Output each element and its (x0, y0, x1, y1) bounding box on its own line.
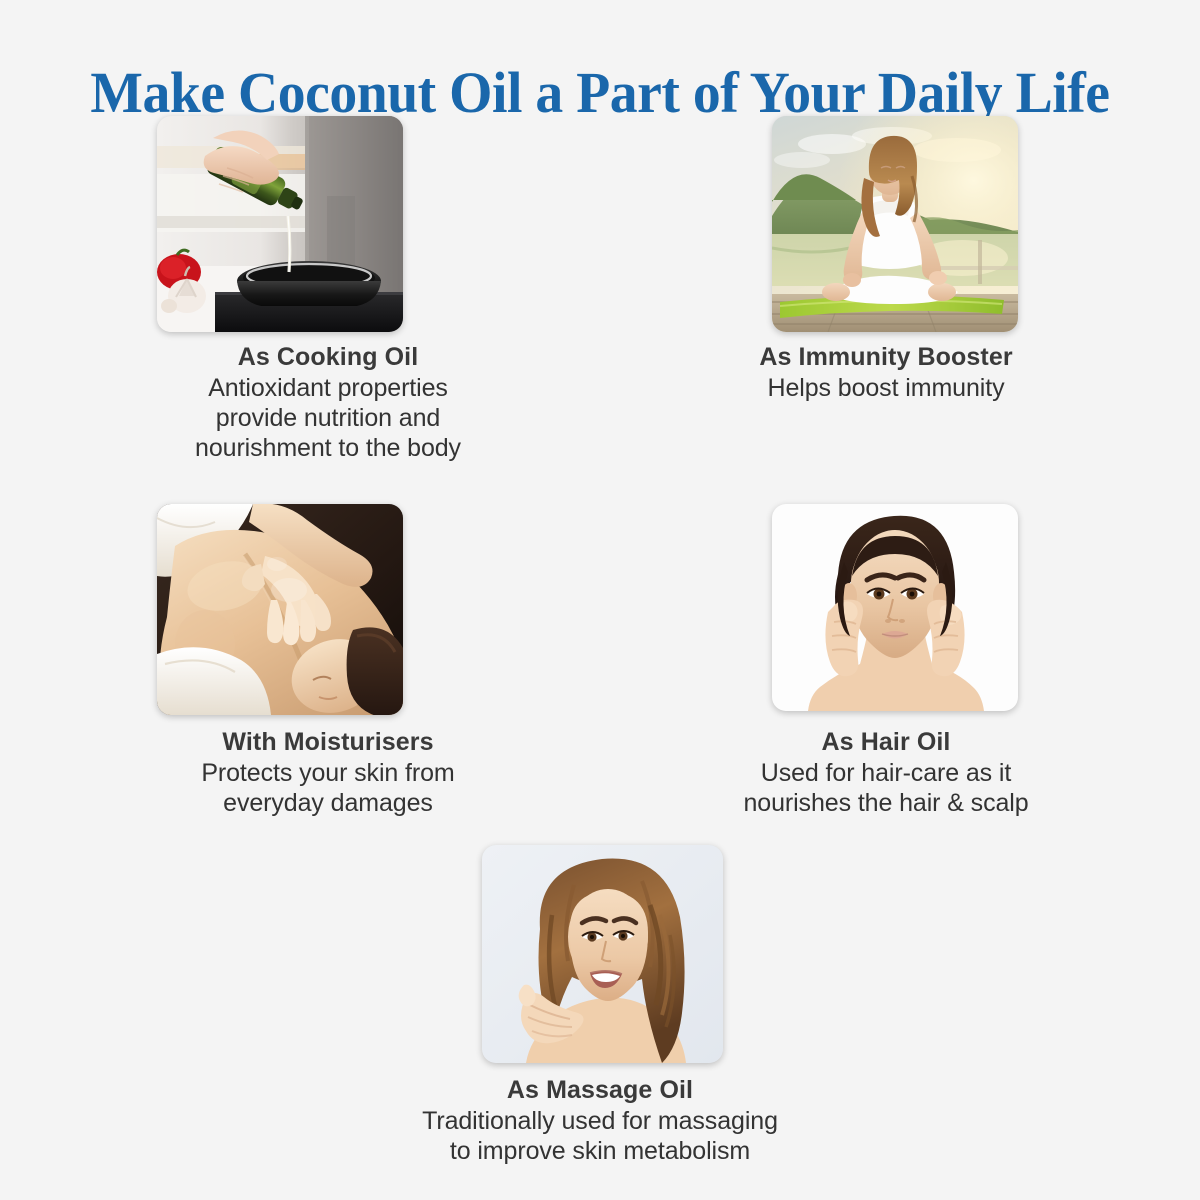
card-description: Traditionally used for massaging to impr… (330, 1106, 870, 1166)
card-description: Used for hair-care as it nourishes the h… (616, 758, 1156, 818)
card-title: As Hair Oil (616, 727, 1156, 758)
caption: As Immunity Booster Helps boost immunity (616, 342, 1156, 403)
moisturisers-image (157, 504, 403, 715)
card-description: Protects your skin from everyday damages (58, 758, 598, 818)
caption: As Massage Oil Traditionally used for ma… (330, 1075, 870, 1166)
benefit-card-immunity-booster: As Immunity Booster Helps boost immunity (616, 116, 1156, 403)
benefit-card-hair-oil: As Hair Oil Used for hair-care as it nou… (616, 504, 1156, 818)
immunity-booster-image (772, 116, 1018, 332)
hair-oil-image (772, 504, 1018, 711)
caption: As Cooking Oil Antioxidant properties pr… (58, 342, 598, 463)
benefit-card-massage-oil: As Massage Oil Traditionally used for ma… (330, 845, 870, 1166)
benefits-grid: As Cooking Oil Antioxidant properties pr… (0, 0, 1200, 1200)
card-title: As Immunity Booster (616, 342, 1156, 373)
card-title: As Cooking Oil (58, 342, 598, 373)
caption: With Moisturisers Protects your skin fro… (58, 727, 598, 818)
card-description: Antioxidant properties provide nutrition… (58, 373, 598, 463)
cooking-oil-image (157, 116, 403, 332)
caption: As Hair Oil Used for hair-care as it nou… (616, 727, 1156, 818)
card-description: Helps boost immunity (616, 373, 1156, 403)
benefit-card-cooking-oil: As Cooking Oil Antioxidant properties pr… (58, 116, 598, 463)
benefit-card-moisturisers: With Moisturisers Protects your skin fro… (58, 504, 598, 818)
card-title: As Massage Oil (330, 1075, 870, 1106)
card-title: With Moisturisers (58, 727, 598, 758)
massage-oil-image (482, 845, 723, 1063)
